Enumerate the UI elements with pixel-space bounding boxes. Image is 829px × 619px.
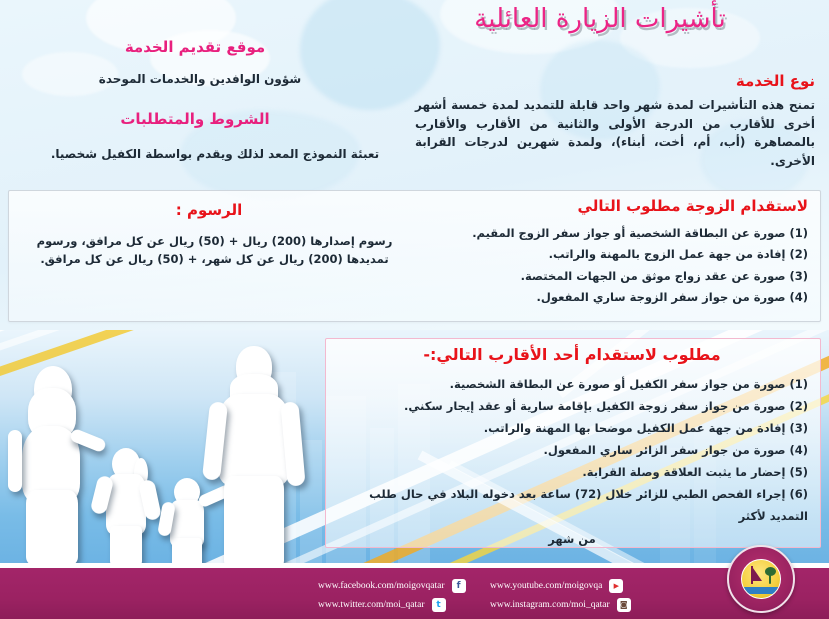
wife-requirements-heading: لاستقدام الزوجة مطلوب التالي: [408, 197, 808, 215]
fees-text: رسوم إصدارها (200) ريال + (50) ريال عن ك…: [17, 233, 412, 269]
service-location-text: شؤون الوافدين والخدمات الموحدة: [10, 70, 390, 89]
fees-heading: الرسوم :: [9, 201, 409, 219]
social-link-twitter[interactable]: t www.twitter.com/moi_qatar: [318, 598, 446, 612]
footer-bar: f www.facebook.com/moigovqatar t www.twi…: [0, 568, 829, 619]
emblem-inner: [741, 559, 781, 599]
social-link-instagram[interactable]: ◙ www.instagram.com/moi_qatar: [490, 598, 631, 612]
list-item: (4) صورة من جواز سفر الزائر ساري المفعول…: [336, 439, 808, 461]
twitter-icon: t: [432, 598, 446, 612]
relatives-requirements-panel: مطلوب لاستقدام أحد الأقارب التالي:- (1) …: [325, 338, 821, 548]
page-title: تأشيرات الزيارة العائلية: [385, 4, 815, 34]
social-url: www.facebook.com/moigovqatar: [318, 581, 445, 591]
list-item: (4) صورة من جواز سفر الزوجة ساري المفعول…: [403, 287, 808, 308]
facebook-icon: f: [452, 579, 466, 593]
social-link-youtube[interactable]: ▶ www.youtube.com/moigovqa: [490, 579, 623, 593]
qatar-moi-emblem-icon: [727, 545, 795, 613]
youtube-icon: ▶: [609, 579, 623, 593]
list-item: (1) صورة من جواز سفر الكفيل أو صورة عن ا…: [336, 373, 808, 395]
social-url: www.youtube.com/moigovqa: [490, 581, 602, 591]
relatives-requirements-list: (1) صورة من جواز سفر الكفيل أو صورة عن ا…: [336, 373, 808, 550]
list-item: (3) صورة عن عقد زواج موثق من الجهات المخ…: [403, 266, 808, 287]
list-item: (6) إجراء الفحص الطبي للزائر خلال (72) س…: [336, 483, 808, 527]
relatives-requirements-heading: مطلوب لاستقدام أحد الأقارب التالي:-: [338, 345, 806, 364]
conditions-text: تعبئة النموذج المعد لذلك ويقدم بواسطة ال…: [10, 145, 420, 164]
conditions-heading: الشروط والمتطلبات: [20, 110, 370, 128]
instagram-icon: ◙: [617, 598, 631, 612]
infographic-poster: تأشيرات الزيارة العائلية موقع تقديم الخد…: [0, 0, 829, 619]
list-item: (3) إفادة من جهة عمل الكفيل موضحا بها ال…: [336, 417, 808, 439]
service-location-heading: موقع تقديم الخدمة: [20, 38, 370, 56]
service-type-heading: نوع الخدمة: [425, 72, 815, 90]
social-url: www.twitter.com/moi_qatar: [318, 600, 425, 610]
service-type-text: تمنح هذه التأشيرات لمدة شهر واحد قابلة ل…: [415, 96, 815, 170]
list-item: (2) إفادة من جهة عمل الزوج بالمهنة والرا…: [403, 244, 808, 265]
middle-panel: لاستقدام الزوجة مطلوب التالي (1) صورة عن…: [8, 190, 821, 322]
list-item: (1) صورة عن البطاقة الشخصية أو جواز سفر …: [403, 223, 808, 244]
social-url: www.instagram.com/moi_qatar: [490, 600, 610, 610]
list-item: من شهر: [336, 528, 808, 550]
wife-requirements-list: (1) صورة عن البطاقة الشخصية أو جواز سفر …: [403, 223, 808, 308]
list-item: (5) إحضار ما يثبت العلاقة وصلة القرابة.: [336, 461, 808, 483]
social-link-facebook[interactable]: f www.facebook.com/moigovqatar: [318, 579, 466, 593]
list-item: (2) صورة من جواز سفر زوجة الكفيل بإقامة …: [336, 395, 808, 417]
